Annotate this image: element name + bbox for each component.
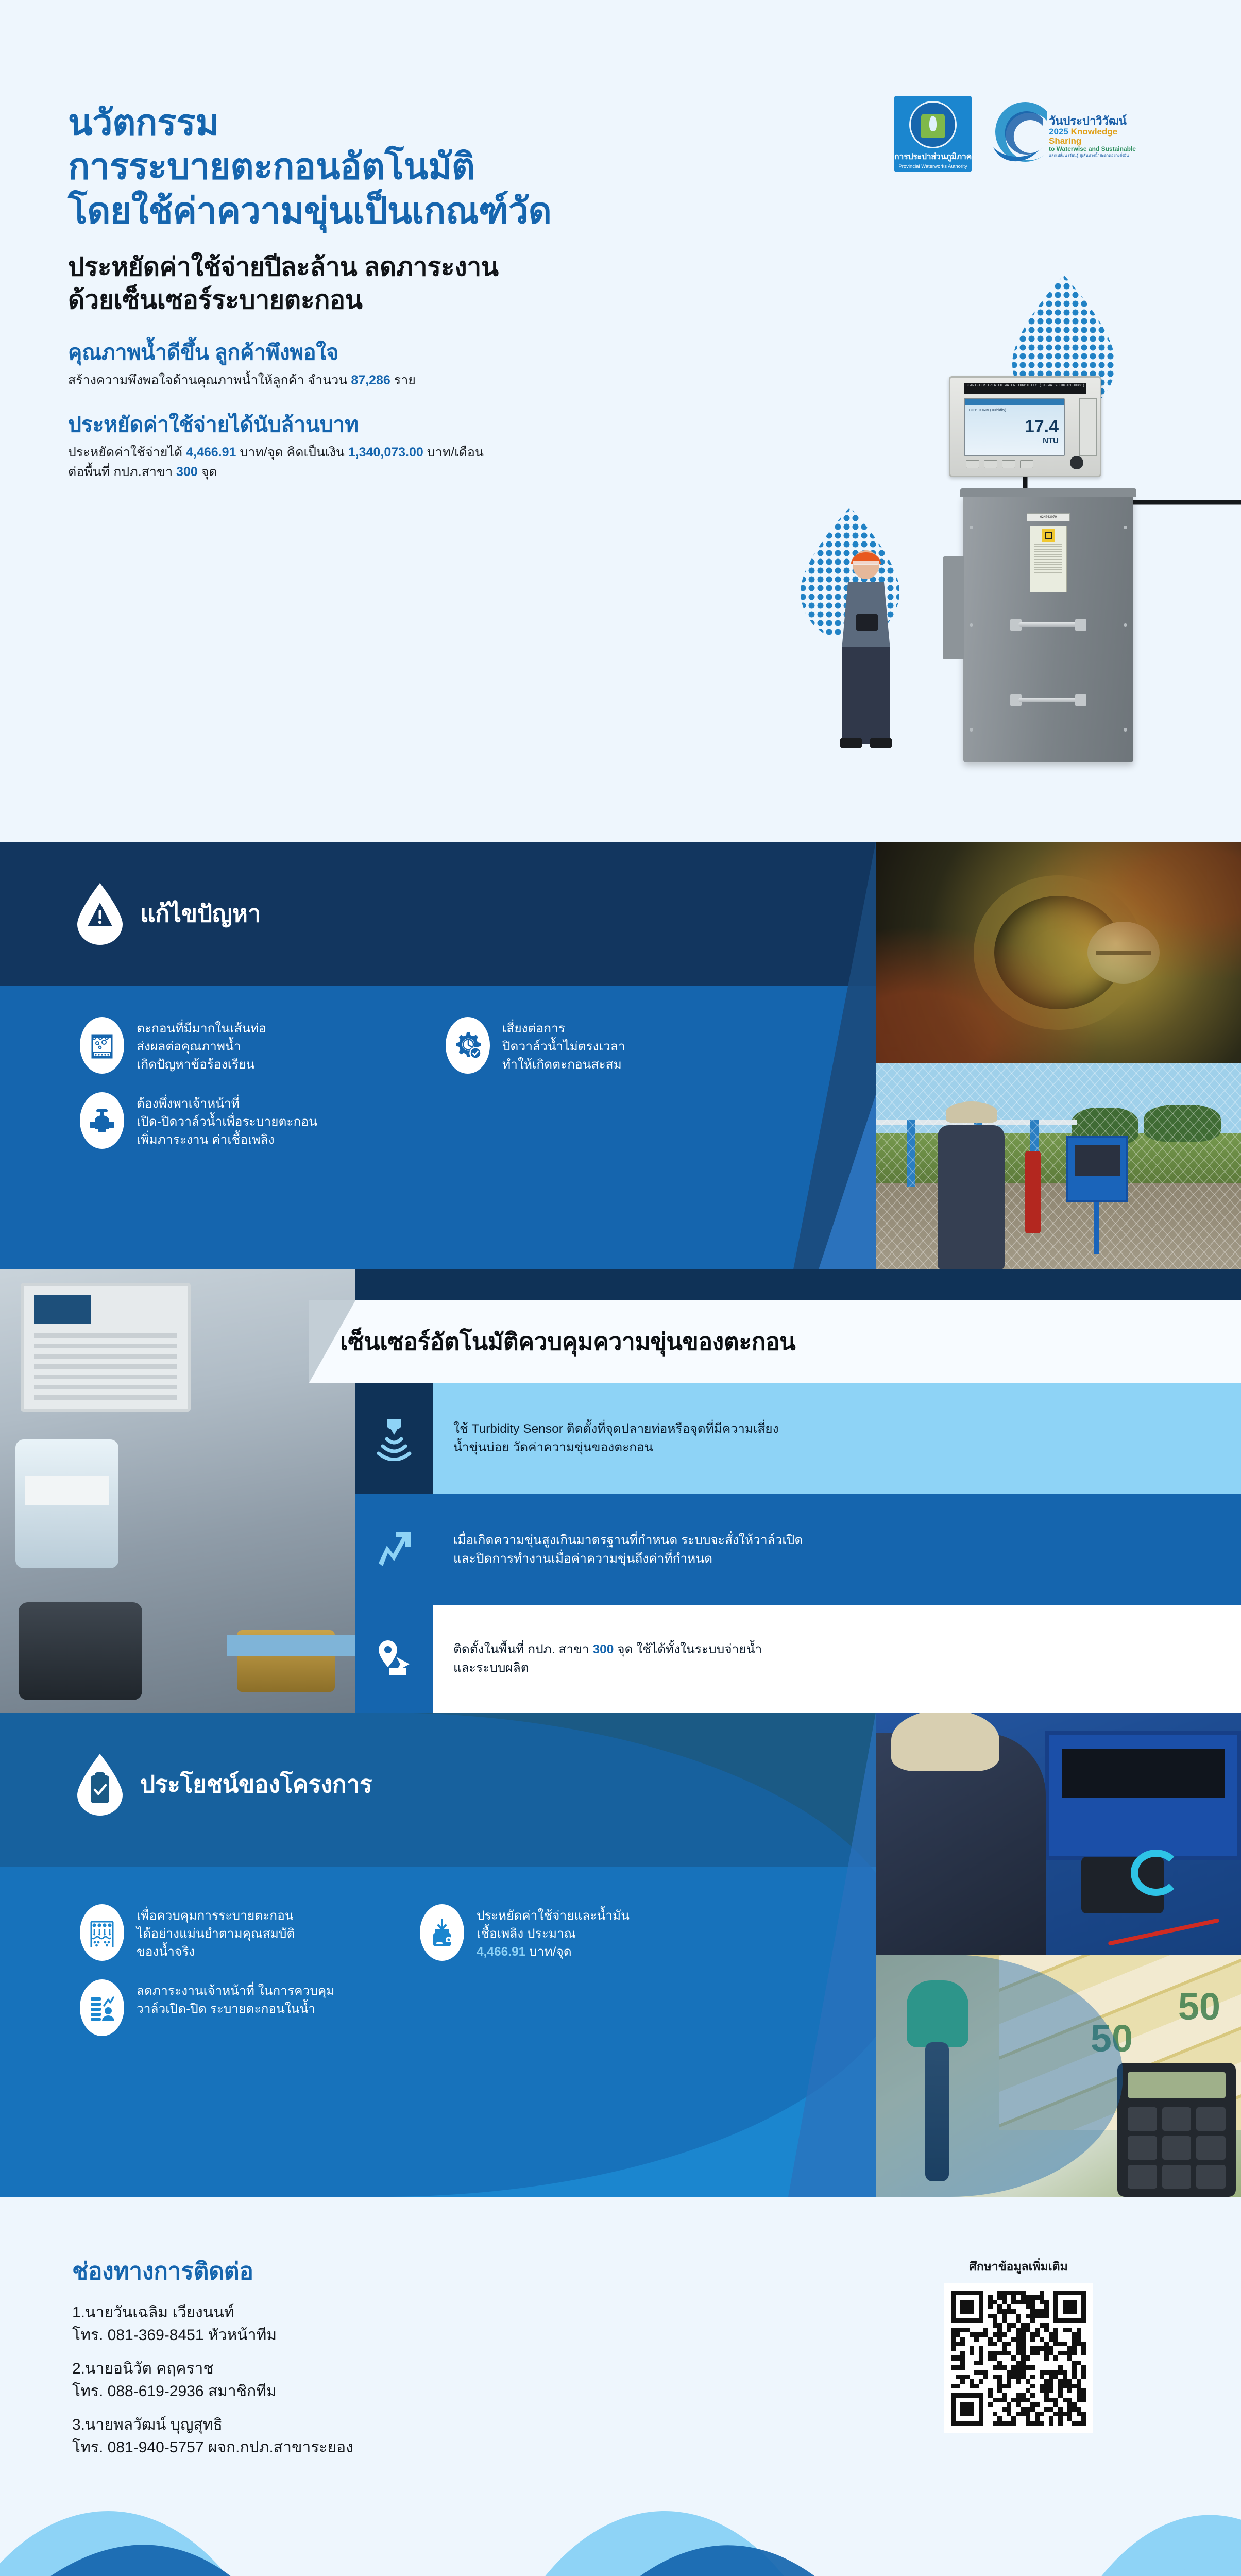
benefit-item: เพื่อควบคุมการระบายตะกอน ได้อย่างแม่นยำต… xyxy=(80,1904,384,1961)
hero-section: การประปาส่วนภูมิภาค Provincial Waterwork… xyxy=(0,0,1241,842)
page-subtitle-line-1: ประหยัดค่าใช้จ่ายปีละล้าน ลดภาระงาน xyxy=(68,250,800,283)
turbidity-controller: CLARIFIER TREATED WATER TURBIDITY (CI-WA… xyxy=(949,376,1101,477)
contact-title: ช่องทางการติดต่อ xyxy=(72,2252,742,2290)
benefit-item: ลดภาระงานเจ้าหน้าที่ ในการควบคุม วาล์วเป… xyxy=(80,1979,543,2036)
sensor-section-title: เซ็นเซอร์อัตโนมัติควบคุมความขุ่นของตะกอน xyxy=(340,1323,795,1361)
savings-post: บาท/เดือน xyxy=(423,445,484,460)
sediment-filter-icon xyxy=(80,1017,124,1074)
sensor-section: เซ็นเซอร์อัตโนมัติควบคุมความขุ่นของตะกอน… xyxy=(0,1269,1241,1713)
sensor-item: ติดตั้งในพื้นที่ กปภ. สาขา 300 จุด ใช้ได… xyxy=(355,1605,1241,1713)
problem-item-text: เสี่ยงต่อการ ปิดวาล์วน้ำไม่ตรงเวลา ทำให้… xyxy=(502,1017,625,1074)
savings-per-point: 4,466.91 xyxy=(186,445,236,460)
controller-channel-label: CH1: TURBI (Turbidity) xyxy=(969,409,1006,412)
problem-item-text: ต้องพึ่งพาเจ้าหน้าที่ เปิด-ปิดวาล์วน้ำเพ… xyxy=(137,1092,317,1149)
stat-body-pre: สร้างความพึงพอใจด้านคุณภาพน้ำให้ลูกค้า จ… xyxy=(68,373,351,387)
fuel-savings-photo: 50 50 xyxy=(876,1955,1241,2197)
workload-person-icon xyxy=(80,1979,124,2036)
area-point-count: 300 xyxy=(176,465,198,479)
clipboard-check-drop-icon xyxy=(75,1753,125,1816)
benefit-item-text: เพื่อควบคุมการระบายตะกอน ได้อย่างแม่นยำต… xyxy=(137,1904,295,1961)
page-title-line-3: โดยใช้ค่าความขุ่นเป็นเกณฑ์วัด xyxy=(68,189,800,233)
sensor-item-text: เมื่อเกิดความขุ่นสูงเกินมาตรฐานที่กำหนด … xyxy=(433,1531,823,1568)
savings-mid: บาท/จุด คิดเป็นเงิน xyxy=(236,445,348,460)
sensor-item-text: ใช้ Turbidity Sensor ติดตั้งที่จุดปลายท่… xyxy=(433,1420,800,1456)
valve-icon xyxy=(80,1092,124,1149)
problem-section-header: แก้ไขปัญหา xyxy=(75,882,261,945)
gear-clock-icon xyxy=(446,1017,490,1074)
cabinet-handle[interactable] xyxy=(1010,619,1086,631)
problem-section-title: แก้ไขปัญหา xyxy=(140,895,261,933)
turbidity-sensor-icon xyxy=(355,1383,433,1494)
area-pre: ต่อพื้นที่ กปภ.สาขา xyxy=(68,465,176,479)
benefit-savings-value: 4,466.91 xyxy=(477,1945,525,1959)
wallet-save-icon xyxy=(420,1904,464,1961)
problem-item: เสี่ยงต่อการ ปิดวาล์วน้ำไม่ตรงเวลา ทำให้… xyxy=(446,1017,775,1074)
controller-screen: CH1: TURBI (Turbidity) 17.4 NTU xyxy=(964,398,1065,456)
stat-body-post: ราย xyxy=(390,373,416,387)
area-post: จุด xyxy=(198,465,217,479)
controller-buttons[interactable] xyxy=(966,460,1033,468)
map-pin-icon xyxy=(355,1605,433,1713)
contact-person: 2.นายอนิวัต คฤคราช โทร. 088-619-2936 สมา… xyxy=(72,2358,742,2402)
stat-heading: ประหยัดค่าใช้จ่ายได้นับล้านบาท xyxy=(68,411,800,438)
stat-customer-count: 87,286 xyxy=(351,373,390,387)
contact-details: ช่องทางการติดต่อ 1.นายวันเฉลิม เวียงนนท์… xyxy=(72,2252,742,2459)
benefit-item-text: ลดภาระงานเจ้าหน้าที่ ในการควบคุม วาล์วเป… xyxy=(137,1979,334,2019)
contact-name: 3.นายพลวัฒน์ บุญสุทธิ xyxy=(72,2414,742,2436)
control-panel-photo xyxy=(0,1269,355,1713)
contact-phone[interactable]: โทร. 088-619-2936 สมาชิกทีม xyxy=(72,2380,742,2403)
cabinet-handle[interactable] xyxy=(1010,694,1086,706)
technician-measuring-photo xyxy=(876,1713,1241,1955)
cabinet-tag: 62M063079 xyxy=(1027,513,1070,521)
stat-block-savings: ประหยัดค่าใช้จ่ายได้นับล้านบาท ประหยัดค่… xyxy=(68,411,800,482)
field-installation-photo xyxy=(876,1063,1241,1269)
warning-drop-icon xyxy=(75,882,125,945)
savings-pre: ประหยัดค่าใช้จ่ายได้ xyxy=(68,445,186,460)
contact-name: 1.นายวันเฉลิม เวียงนนท์ xyxy=(72,2301,742,2324)
sensor-point-count: 300 xyxy=(592,1642,614,1656)
sensor-item: ใช้ Turbidity Sensor ติดตั้งที่จุดปลายท่… xyxy=(355,1383,1241,1494)
problem-section: แก้ไขปัญหา xyxy=(0,842,1241,1269)
qr-block: ศึกษาข้อมูลเพิ่มเติม xyxy=(910,2258,1127,2433)
sensor-item: เมื่อเกิดความขุ่นสูงเกินมาตรฐานที่กำหนด … xyxy=(355,1494,1241,1605)
stat-block-satisfaction: คุณภาพน้ำดีขึ้น ลูกค้าพึงพอใจ สร้างความพ… xyxy=(68,339,800,391)
worker-photo xyxy=(827,546,905,752)
problem-items: ตะกอนที่มีมากในเส้นท่อ ส่งผลต่อคุณภาพน้ำ… xyxy=(80,1017,827,1168)
problem-item-text: ตะกอนที่มีมากในเส้นท่อ ส่งผลต่อคุณภาพน้ำ… xyxy=(137,1017,266,1074)
control-cabinet: 62M063079 xyxy=(963,495,1133,762)
wave-decoration xyxy=(0,2434,1241,2576)
turbidity-unit: NTU xyxy=(1043,436,1059,445)
hero-text-block: นวัตกรรม การระบายตะกอนอัตโนมัติ โดยใช้ค่… xyxy=(68,101,800,482)
benefit-section-header: ประโยชน์ของโครงการ xyxy=(75,1753,372,1816)
benefit-items: เพื่อควบคุมการระบายตะกอน ได้อย่างแม่นยำต… xyxy=(80,1904,853,2055)
stat-body: สร้างความพึงพอใจด้านคุณภาพน้ำให้ลูกค้า จ… xyxy=(68,371,800,391)
page-title-line-1: นวัตกรรม xyxy=(68,101,800,145)
contact-phone[interactable]: โทร. 081-369-8451 หัวหน้าทีม xyxy=(72,2324,742,2347)
sensor-section-header: เซ็นเซอร์อัตโนมัติควบคุมความขุ่นของตะกอน xyxy=(309,1300,1241,1383)
trend-up-icon xyxy=(355,1494,433,1605)
infographic-poster: การประปาส่วนภูมิภาค Provincial Waterwork… xyxy=(0,0,1241,2576)
qr-caption: ศึกษาข้อมูลเพิ่มเติม xyxy=(910,2258,1127,2276)
turbidity-value: 17.4 xyxy=(1025,418,1059,435)
cabinet-warning-label xyxy=(1030,526,1067,592)
contact-person: 1.นายวันเฉลิม เวียงนนท์ โทร. 081-369-845… xyxy=(72,2301,742,2346)
sensor-item-text: ติดตั้งในพื้นที่ กปภ. สาขา 300 จุด ใช้ได… xyxy=(433,1640,783,1677)
stat-heading: คุณภาพน้ำดีขึ้น ลูกค้าพึงพอใจ xyxy=(68,339,800,366)
problem-item: ตะกอนที่มีมากในเส้นท่อ ส่งผลต่อคุณภาพน้ำ… xyxy=(80,1017,410,1074)
controller-knob[interactable] xyxy=(1070,456,1083,469)
contact-section: ช่องทางการติดต่อ 1.นายวันเฉลิม เวียงนนท์… xyxy=(0,2197,1241,2576)
page-subtitle-line-2: ด้วยเซ็นเซอร์ระบายตะกอน xyxy=(68,283,800,316)
qr-code-icon[interactable] xyxy=(944,2283,1093,2433)
problem-item: ต้องพึ่งพาเจ้าหน้าที่ เปิด-ปิดวาล์วน้ำเพ… xyxy=(80,1092,410,1149)
sedimentation-tank-icon xyxy=(80,1904,124,1961)
stat-body: ประหยัดค่าใช้จ่ายได้ 4,466.91 บาท/จุด คิ… xyxy=(68,443,800,482)
benefit-item: ประหยัดค่าใช้จ่ายและน้ำมัน เชื้อเพลิง ปร… xyxy=(420,1904,739,1961)
controller-header-label: CLARIFIER TREATED WATER TURBIDITY (CI-WA… xyxy=(964,383,1086,394)
clogged-pipe-photo xyxy=(876,842,1241,1063)
page-subtitle: ประหยัดค่าใช้จ่ายปีละล้าน ลดภาระงาน ด้วย… xyxy=(68,250,800,316)
savings-per-month: 1,340,073.00 xyxy=(348,445,423,460)
page-title-line-2: การระบายตะกอนอัตโนมัติ xyxy=(68,145,800,189)
contact-name: 2.นายอนิวัต คฤคราช xyxy=(72,2358,742,2380)
benefit-section: 50 50 ประโยชน์ของโครงการ xyxy=(0,1713,1241,2197)
benefit-item-text: ประหยัดค่าใช้จ่ายและน้ำมัน เชื้อเพลิง ปร… xyxy=(477,1904,630,1961)
page-title: นวัตกรรม การระบายตะกอนอัตโนมัติ โดยใช้ค่… xyxy=(68,101,800,233)
benefit-section-title: ประโยชน์ของโครงการ xyxy=(140,1766,372,1803)
